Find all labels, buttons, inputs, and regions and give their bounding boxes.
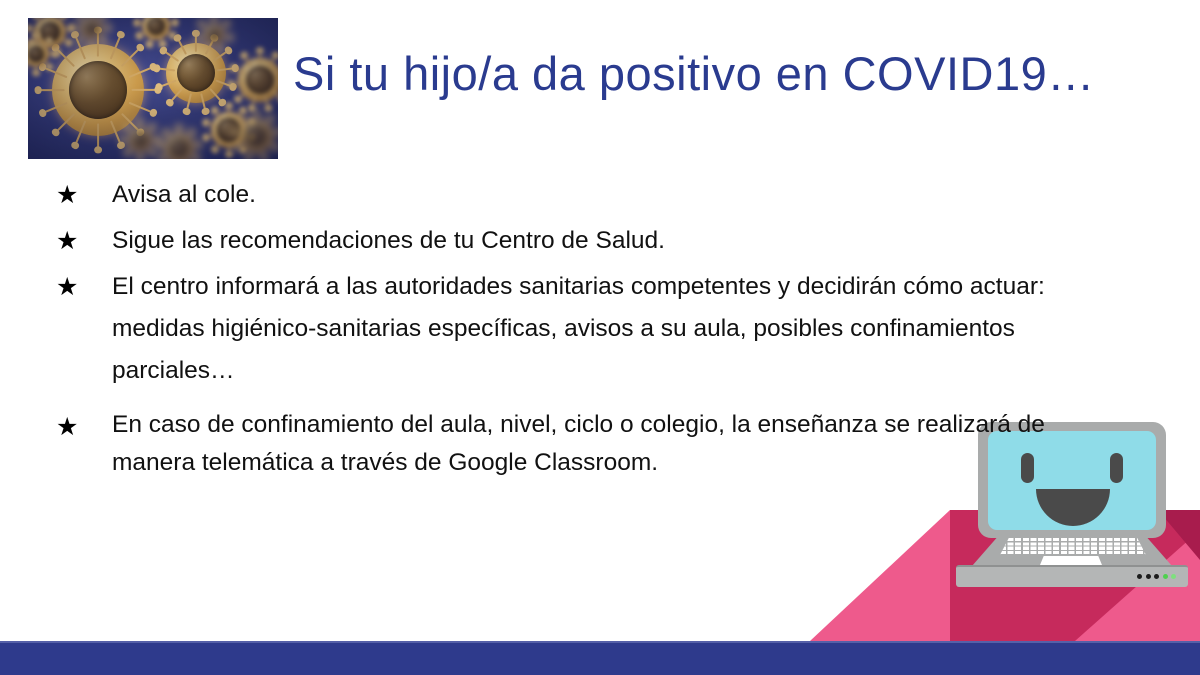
bullet-item: ★En caso de confinamiento del aula, nive… <box>48 406 1103 482</box>
star-icon: ★ <box>48 174 112 216</box>
laptop-face-smile <box>1036 489 1110 526</box>
slide-title: Si tu hijo/a da positivo en COVID19… <box>293 48 1153 100</box>
bullet-text: Avisa al cole. <box>112 174 1103 216</box>
virus-photo-vignette <box>28 18 278 159</box>
star-icon: ★ <box>48 220 112 262</box>
star-icon: ★ <box>48 406 112 448</box>
coronavirus-illustration <box>28 18 278 159</box>
bullet-item: ★Sigue las recomendaciones de tu Centro … <box>48 220 1103 262</box>
bullet-item: ★El centro informará a las autoridades s… <box>48 266 1103 392</box>
laptop-trackpad <box>1040 556 1102 565</box>
bullet-item: ★Avisa al cole. <box>48 174 1103 216</box>
laptop-status-dots <box>1137 574 1176 579</box>
presentation-slide: Si tu hijo/a da positivo en COVID19… ★Av… <box>0 0 1200 675</box>
status-dot <box>1171 574 1176 579</box>
laptop-front-edge <box>956 565 1188 587</box>
status-dot <box>1163 574 1168 579</box>
bullet-list: ★Avisa al cole.★Sigue las recomendacione… <box>48 174 1103 486</box>
bullet-text: Sigue las recomendaciones de tu Centro d… <box>112 220 1103 262</box>
bullet-text: En caso de confinamiento del aula, nivel… <box>112 406 1103 482</box>
laptop-keyboard-rows <box>1000 538 1146 555</box>
star-icon: ★ <box>48 266 112 308</box>
status-dot <box>1146 574 1151 579</box>
laptop-face-right-eye <box>1110 453 1123 483</box>
bullet-text: El centro informará a las autoridades sa… <box>112 266 1103 392</box>
bottom-accent-bar <box>0 641 1200 675</box>
status-dot <box>1154 574 1159 579</box>
status-dot <box>1137 574 1142 579</box>
laptop-base <box>952 534 1192 587</box>
